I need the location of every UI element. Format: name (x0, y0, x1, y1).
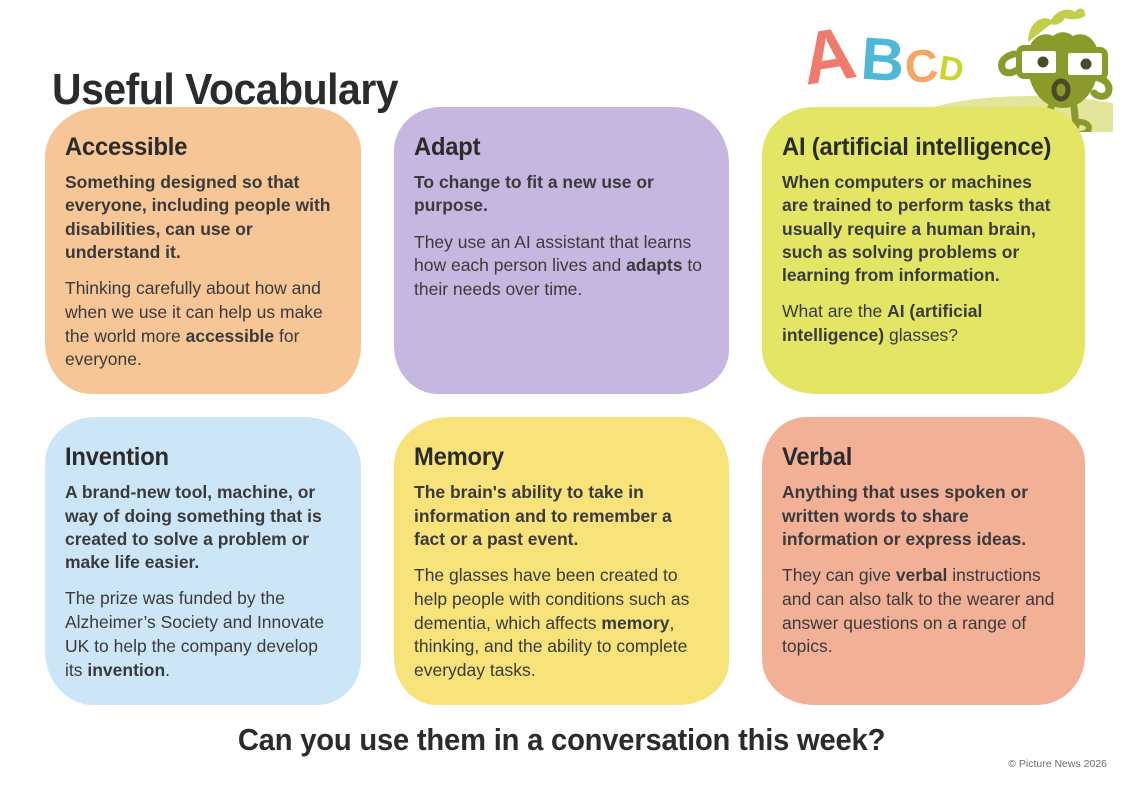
vocabulary-card-adapt: Adapt To change to fit a new use or purp… (394, 107, 729, 394)
card-term: Invention (65, 443, 323, 472)
card-definition: When computers or machines are trained t… (782, 171, 1061, 287)
letter-c-icon: C (903, 39, 940, 93)
card-definition: The brain's ability to take in informati… (414, 481, 705, 551)
card-example: What are the AI (artificial intelligence… (782, 300, 1061, 348)
vocabulary-card-invention: Invention A brand-new tool, machine, or … (45, 417, 361, 705)
vocabulary-card-verbal: Verbal Anything that uses spoken or writ… (762, 417, 1085, 705)
card-term: Adapt (414, 133, 690, 162)
footer-tagline: Can you use them in a conversation this … (34, 722, 1090, 758)
card-term: Memory (414, 443, 690, 472)
card-definition: To change to fit a new use or purpose. (414, 171, 705, 218)
card-example: The prize was funded by the Alzheimer’s … (65, 587, 337, 682)
card-example: They use an AI assistant that learns how… (414, 231, 705, 302)
card-term: Accessible (65, 133, 323, 162)
vocabulary-card-grid: Accessible Something designed so that ev… (45, 107, 1085, 705)
vocabulary-card-ai: AI (artificial intelligence) When comput… (762, 107, 1085, 394)
vocabulary-card-accessible: Accessible Something designed so that ev… (45, 107, 361, 394)
copyright-notice: © Picture News 2026 (1008, 758, 1107, 770)
card-example: The glasses have been created to help pe… (414, 564, 705, 683)
apple-left-eye (1038, 57, 1049, 68)
card-definition: Anything that uses spoken or written wor… (782, 481, 1061, 551)
letter-d-icon: D (936, 49, 966, 90)
letter-a-icon: A (796, 10, 862, 100)
card-term: Verbal (782, 443, 1047, 472)
card-term: AI (artificial intelligence) (782, 133, 1047, 162)
apple-left-arm (1002, 54, 1017, 73)
card-example: They can give verbal instructions and ca… (782, 564, 1061, 659)
glasses-bridge (1059, 60, 1065, 61)
vocabulary-card-memory: Memory The brain's ability to take in in… (394, 417, 729, 705)
letter-b-icon: B (859, 25, 907, 95)
card-definition: Something designed so that everyone, inc… (65, 171, 337, 264)
card-example: Thinking carefully about how and when we… (65, 277, 337, 372)
card-definition: A brand-new tool, machine, or way of doi… (65, 481, 337, 574)
apple-right-eye (1081, 59, 1092, 70)
